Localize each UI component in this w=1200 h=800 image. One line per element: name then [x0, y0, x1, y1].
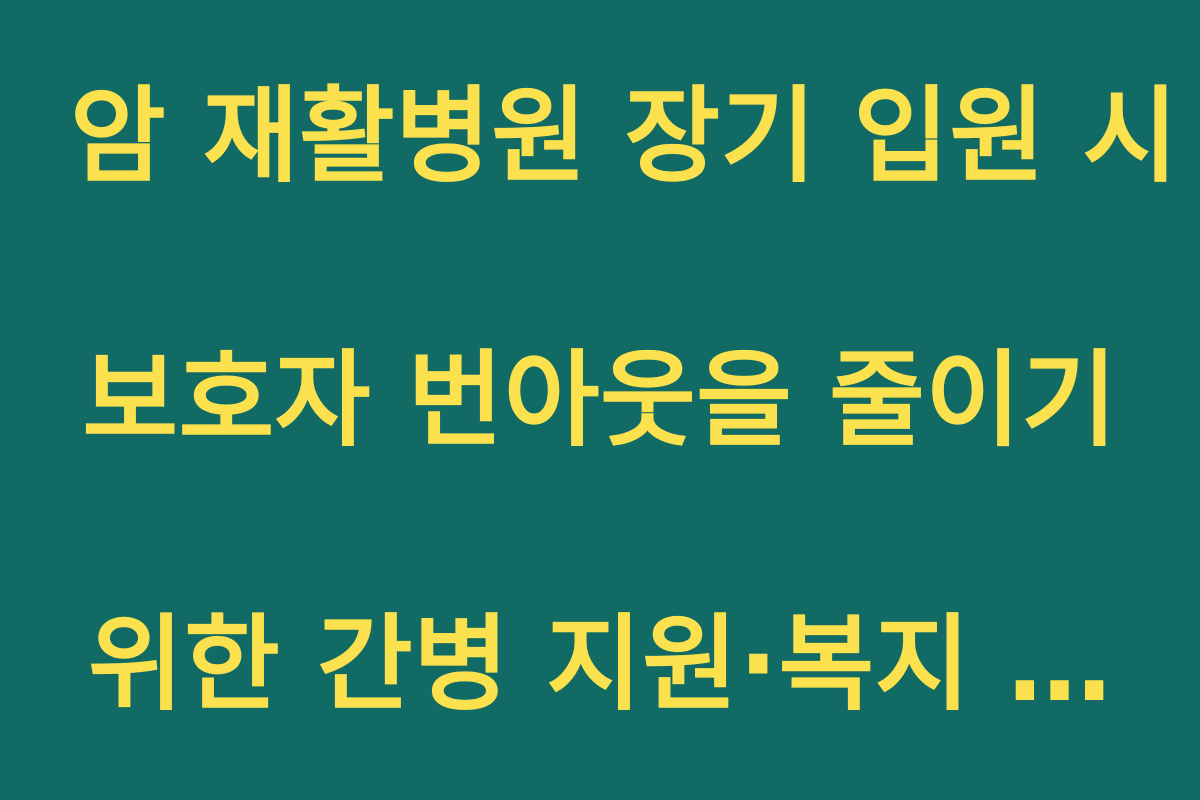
text-card: 암 재활병원 장기 입원 시 보호자 번아웃을 줄이기 위한 간병 지원·복지 …: [0, 0, 1200, 800]
headline-line-2: 보호자 번아웃을 줄이기: [70, 334, 1130, 466]
headline: 암 재활병원 장기 입원 시 보호자 번아웃을 줄이기 위한 간병 지원·복지 …: [70, 0, 1130, 800]
headline-line-3: 위한 간병 지원·복지 …: [70, 598, 1130, 730]
headline-line-1: 암 재활병원 장기 입원 시: [70, 70, 1130, 202]
